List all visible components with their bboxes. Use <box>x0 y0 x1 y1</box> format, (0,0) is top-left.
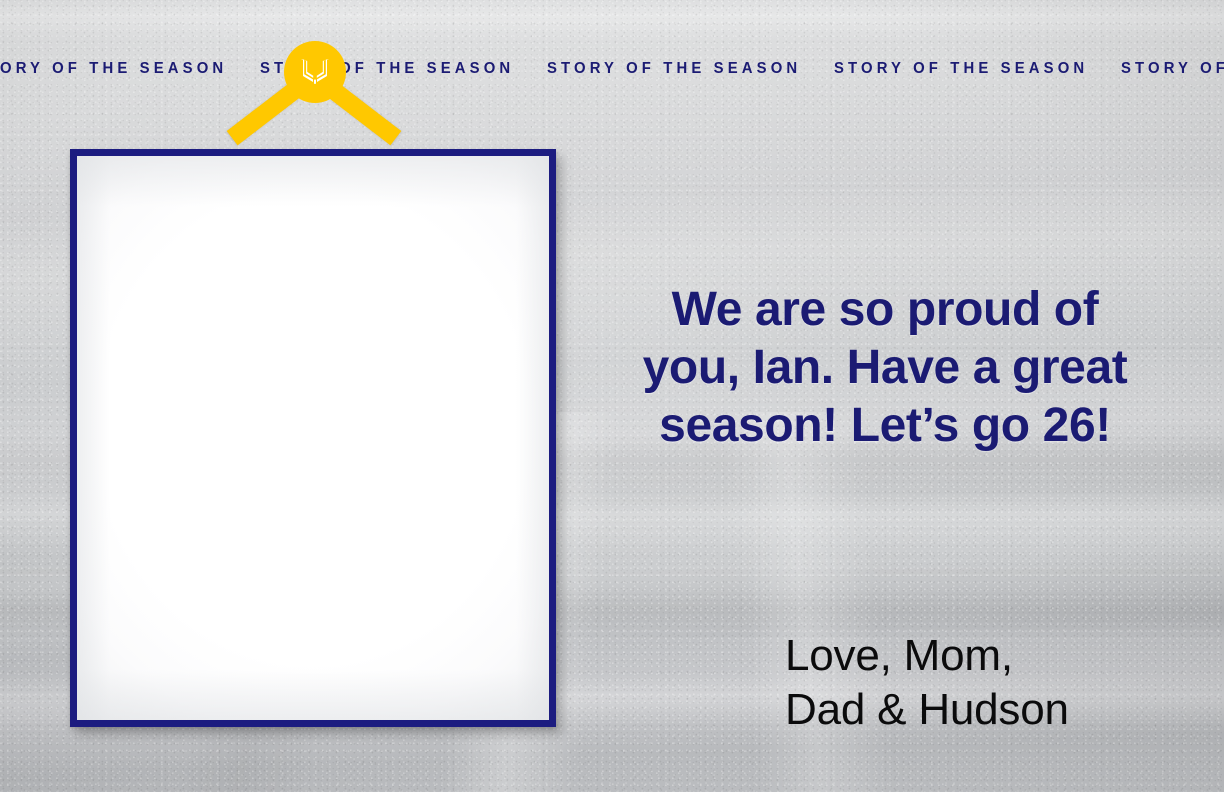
ticker-word: STORY OF THE SEASON <box>0 60 248 78</box>
signature-text: Love, Mom, Dad & Hudson <box>785 629 1185 737</box>
ticker-word: STORY OF THE SEASON <box>834 60 1109 78</box>
photo-placeholder <box>77 156 549 720</box>
story-of-the-season-ticker: STORY OF THE SEASON STORY OF THE SEASON … <box>0 56 1224 82</box>
message-text: We are so proud of you, Ian. Have a grea… <box>620 281 1150 455</box>
ticker-track: STORY OF THE SEASON STORY OF THE SEASON … <box>0 60 1224 78</box>
message-line-3: season! Let’s go 26! <box>659 399 1111 452</box>
message-line-1: We are so proud of <box>672 283 1099 336</box>
message-line-2: you, Ian. Have a great <box>643 341 1128 394</box>
open-book-icon <box>298 57 332 87</box>
tribute-card: STORY OF THE SEASON STORY OF THE SEASON … <box>0 0 1224 792</box>
photo-frame <box>70 149 556 727</box>
signature-line-1: Love, Mom, <box>785 629 1185 683</box>
ticker-word: STORY OF THE SEASON <box>1121 60 1224 78</box>
logo-badge <box>284 41 346 103</box>
signature-line-2: Dad & Hudson <box>785 683 1185 737</box>
ticker-word: STORY OF THE SEASON <box>547 60 822 78</box>
